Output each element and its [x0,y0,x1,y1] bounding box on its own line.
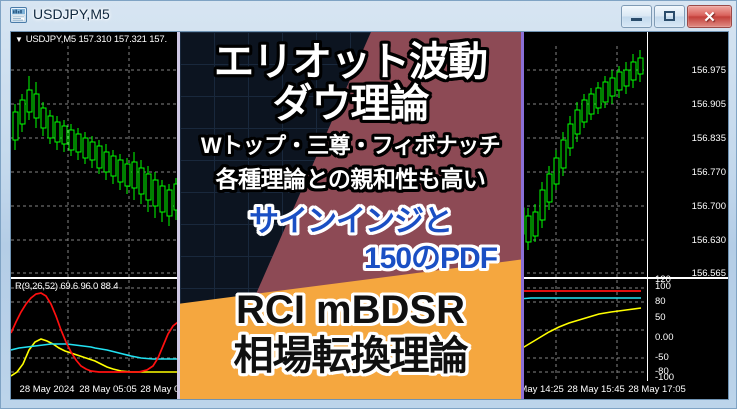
collapse-arrow-icon[interactable]: ▼ [15,35,23,44]
mt4-chart-window: USDJPY,M5 ✕ [0,0,737,409]
promo-line-8: 相場転換理論 [180,336,521,376]
promo-line-7: RCI mBDSR [180,290,521,330]
time-tick: 28 May 2024 [20,384,75,395]
price-tick: 156.770 [692,167,726,178]
overlay-text-group: エリオット波動 ダウ理論 Wトップ・三尊・フィボナッチ 各種理論との親和性も高い… [180,32,521,399]
promo-overlay: エリオット波動 ダウ理論 Wトップ・三尊・フィボナッチ 各種理論との親和性も高い… [177,32,524,399]
window-title: USDJPY,M5 [33,6,110,22]
close-icon: ✕ [688,6,731,27]
price-tick: 156.835 [692,133,726,144]
price-axis-divider [647,32,648,381]
close-button[interactable]: ✕ [687,5,732,28]
promo-line-2: ダウ理論 [180,84,521,124]
rci-tick: 50 [655,312,666,323]
title-bar[interactable]: USDJPY,M5 ✕ [1,1,737,29]
price-tick: 156.630 [692,235,726,246]
promo-line-5: サインインジと [180,207,524,237]
promo-line-6: 150のPDF [180,244,524,274]
rci-tick: 100 [655,281,671,292]
maximize-icon [664,11,675,21]
time-tick: 28 May 17:05 [628,384,686,395]
symbol-header-text: USDJPY,M5 157.310 157.321 157. [26,34,167,45]
price-tick: 156.905 [692,99,726,110]
rci-tick: -50 [655,352,669,363]
promo-line-4: 各種理論との親和性も高い [180,168,521,191]
time-tick: 28 May 05:05 [79,384,137,395]
chart-document-icon [10,7,27,23]
maximize-button[interactable] [654,5,685,28]
rci-tick: 0.00 [655,332,674,343]
price-tick: 156.700 [692,201,726,212]
time-tick: 28 May 15:45 [567,384,625,395]
rci-header: R(9,26,52) 69.6 96.0 88.4 [15,281,118,292]
window-controls: ✕ [621,5,732,26]
promo-line-1: エリオット波動 [180,42,521,82]
symbol-header: ▼USDJPY,M5 157.310 157.321 157. [15,34,167,45]
minimize-button[interactable] [621,5,652,28]
rci-tick: 80 [655,296,666,307]
promo-line-3: Wトップ・三尊・フィボナッチ [180,135,521,157]
price-tick: 156.975 [692,65,726,76]
chart-canvas[interactable]: ▼USDJPY,M5 157.310 157.321 157. 156.975 … [10,31,729,400]
minimize-icon [631,18,642,21]
